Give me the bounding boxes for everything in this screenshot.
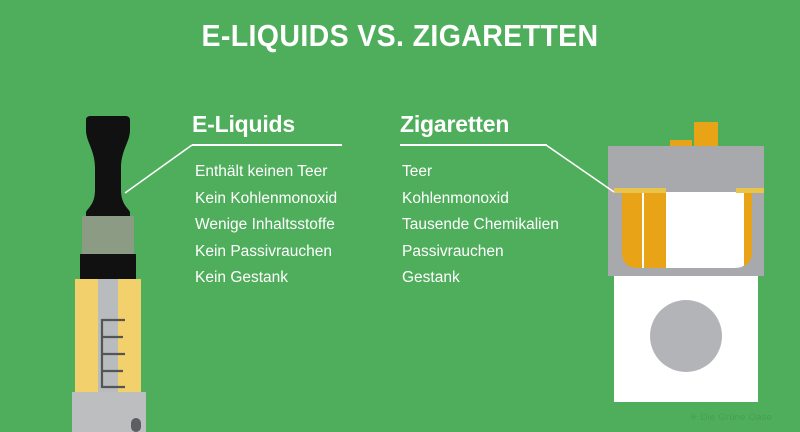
cigarette-short-1 xyxy=(622,192,642,268)
cigarette-paper-3 xyxy=(720,236,742,268)
column-heading-eliquids: E-Liquids xyxy=(192,111,295,138)
list-item: Kein Passivrauchen xyxy=(195,239,337,266)
column-rule-eliquids xyxy=(192,144,342,146)
infographic-canvas: E-LIQUIDS VS. ZIGARETTEN xyxy=(0,0,800,432)
drawback-list-zigaretten: Teer Kohlenmonoxid Tausende Chemikalien … xyxy=(402,159,559,292)
ecig-collar xyxy=(82,216,134,254)
credit-attribution: ✳ Die Grüne Oase xyxy=(690,412,772,423)
list-item: Gestank xyxy=(402,265,559,292)
list-item: Tausende Chemikalien xyxy=(402,212,559,239)
cigarette-short-3 xyxy=(744,192,752,268)
list-item: Teer xyxy=(402,159,559,186)
list-item: Enthält keinen Teer xyxy=(195,159,337,186)
page-title: E-LIQUIDS VS. ZIGARETTEN xyxy=(32,18,768,54)
cigarette-short-2 xyxy=(644,192,666,268)
ecigarette-illustration xyxy=(72,116,182,432)
pack-logo-circle xyxy=(650,300,722,372)
benefit-list-eliquids: Enthält keinen Teer Kein Kohlenmonoxid W… xyxy=(195,159,337,292)
list-item: Kein Kohlenmonoxid xyxy=(195,186,337,213)
list-item: Kohlenmonoxid xyxy=(402,186,559,213)
cigarette-paper-1 xyxy=(670,222,692,268)
ecig-base-accent xyxy=(131,418,141,432)
ecig-drip-tip xyxy=(86,116,130,216)
cigarette-paper-2 xyxy=(694,204,718,268)
ecig-ring xyxy=(80,254,136,279)
column-heading-zigaretten: Zigaretten xyxy=(400,111,509,138)
list-item: Passivrauchen xyxy=(402,239,559,266)
list-item: Wenige Inhaltsstoffe xyxy=(195,212,337,239)
cigarette-pack-illustration xyxy=(600,118,780,408)
list-item: Kein Gestank xyxy=(195,265,337,292)
column-rule-zigaretten xyxy=(400,144,547,146)
